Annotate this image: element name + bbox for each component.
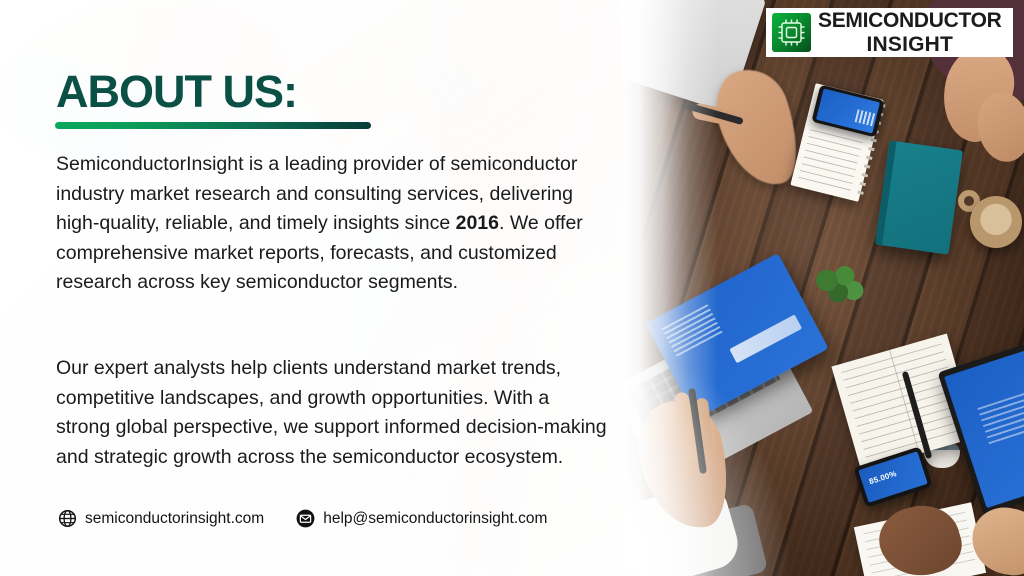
envelope-icon [296, 509, 315, 528]
paragraph-1-year: 2016 [456, 212, 499, 234]
logo-line-1: SEMICONDUCTOR [818, 10, 1002, 31]
teal-notebook [875, 140, 963, 254]
title-underline [55, 122, 371, 129]
company-logo: SEMICONDUCTOR INSIGHT [766, 8, 1013, 57]
website-label: semiconductorinsight.com [85, 510, 264, 528]
globe-icon [58, 509, 77, 528]
website-contact[interactable]: semiconductorinsight.com [58, 509, 264, 528]
content-area: ABOUT US: SemiconductorInsight is a lead… [0, 0, 622, 576]
microchip-icon [772, 13, 811, 52]
contact-bar: semiconductorinsight.com help@semiconduc… [58, 509, 547, 528]
phone-percentage-value: 85.00% [868, 469, 898, 486]
about-us-slide: 85.00% [0, 0, 1024, 576]
desk-photo: 85.00% [622, 0, 1024, 576]
email-label: help@semiconductorinsight.com [323, 510, 547, 528]
email-contact[interactable]: help@semiconductorinsight.com [296, 509, 547, 528]
page-title: ABOUT US: [56, 66, 297, 118]
paragraph-1: SemiconductorInsight is a leading provid… [56, 150, 608, 298]
logo-line-2: INSIGHT [866, 34, 953, 55]
paragraph-2: Our expert analysts help clients underst… [56, 354, 608, 472]
paragraph-2-text: Our expert analysts help clients underst… [56, 357, 607, 468]
